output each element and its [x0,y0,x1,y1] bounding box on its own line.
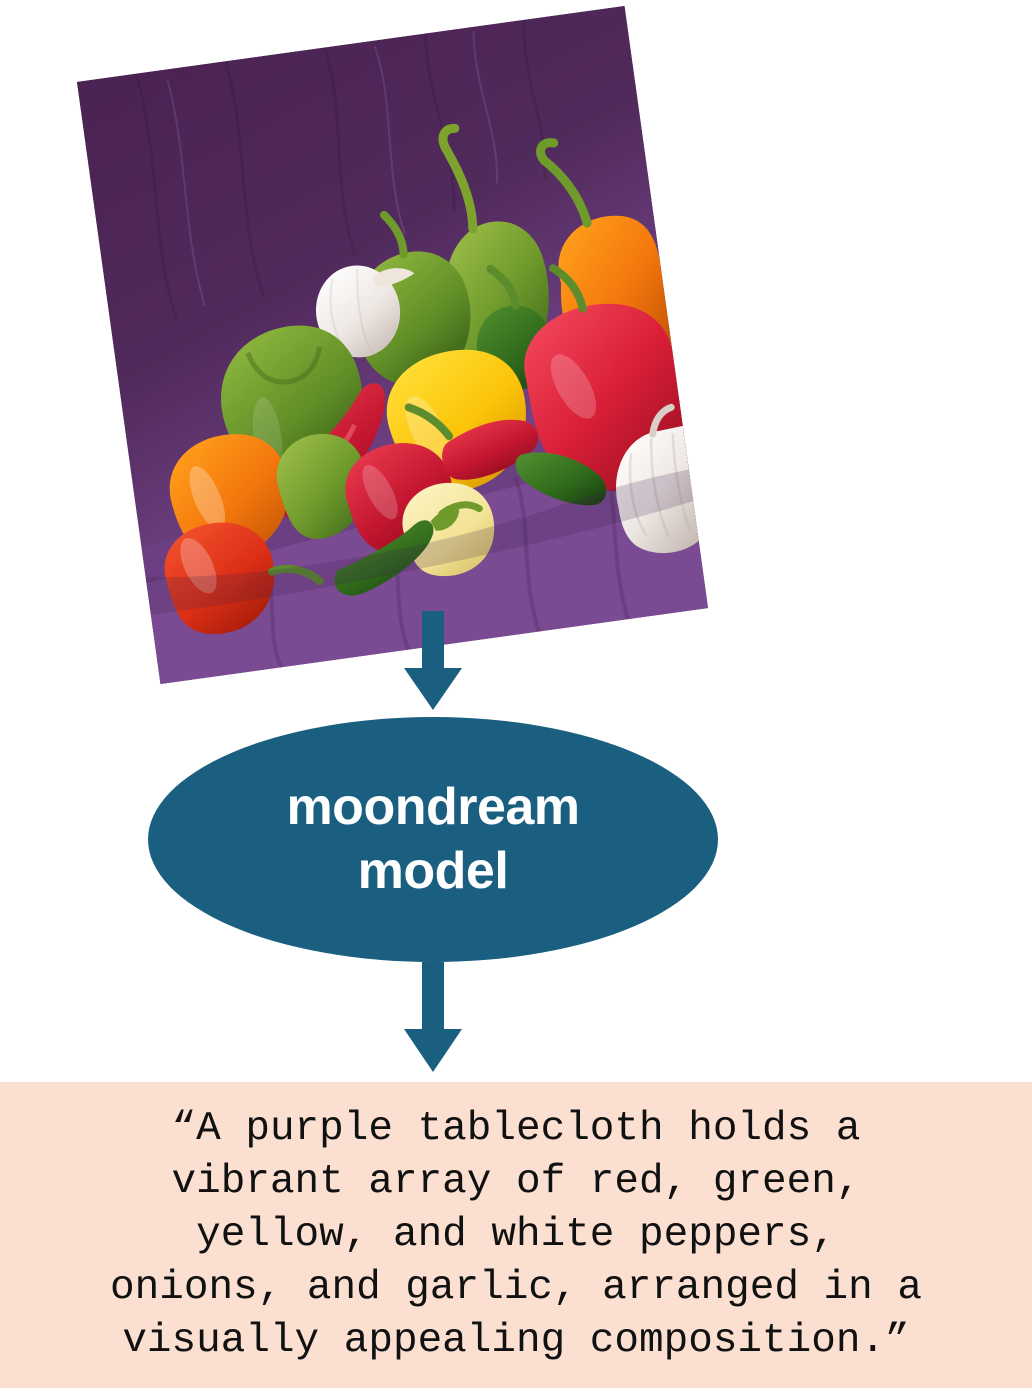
captioning-pipeline-diagram: moondream model “A purple tablecloth hol… [0,0,1032,1398]
output-caption-text: “A purple tablecloth holds a vibrant arr… [11,1103,1021,1368]
output-caption-band: “A purple tablecloth holds a vibrant arr… [0,1082,1032,1388]
